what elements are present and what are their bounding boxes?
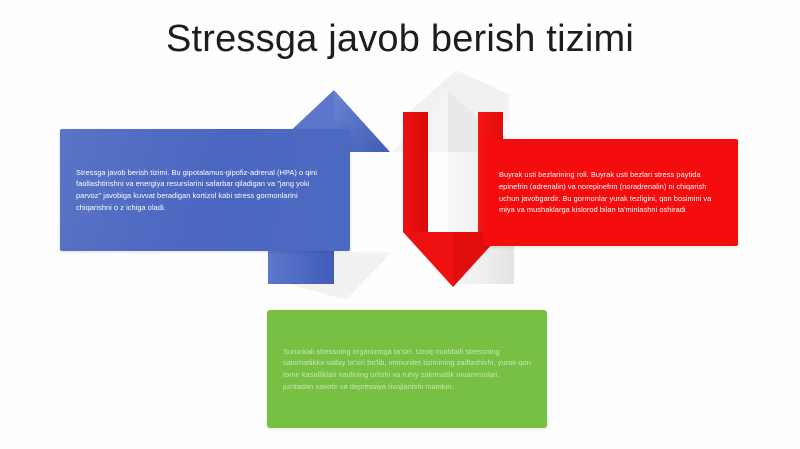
chronic-stress-box-text: Surunkali stressning organizmga ta'siri.…	[283, 346, 531, 392]
slide-canvas: Stressga javob berish tizimi	[0, 0, 800, 449]
hpa-axis-box-text: Stressga javob berish tizimi. Bu gipotal…	[76, 167, 334, 213]
page-title: Stressga javob berish tizimi	[0, 16, 800, 62]
chronic-stress-box: Surunkali stressning organizmga ta'siri.…	[267, 310, 547, 428]
hpa-axis-box: Stressga javob berish tizimi. Bu gipotal…	[60, 129, 350, 251]
adrenal-glands-box-text: Buyrak usti bezlarining roli. Buyrak ust…	[499, 169, 722, 215]
adrenal-glands-box: Buyrak usti bezlarining roli. Buyrak ust…	[483, 139, 738, 246]
